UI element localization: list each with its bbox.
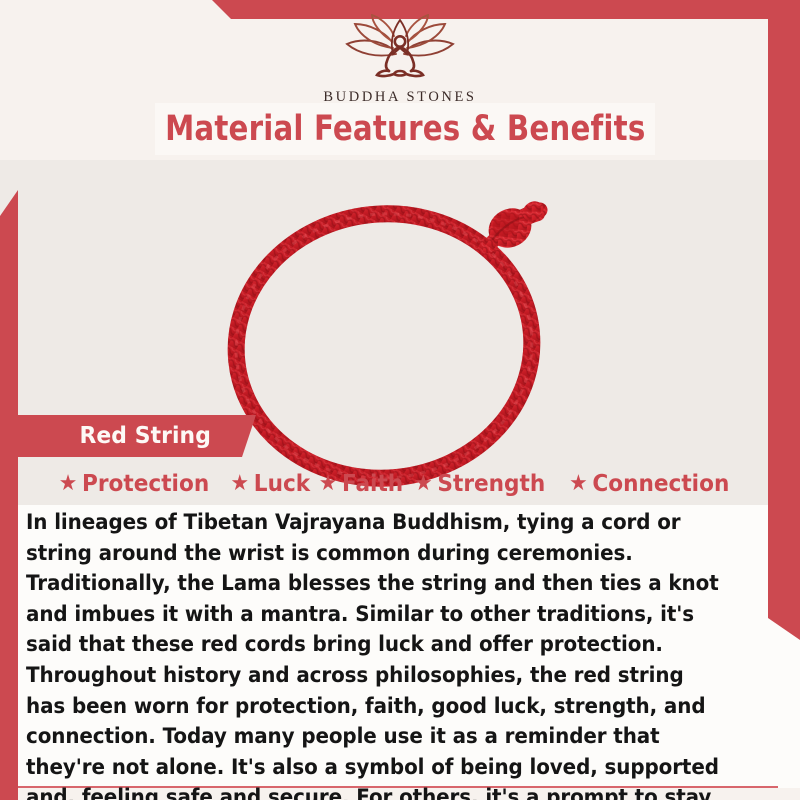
star-icon: ★ <box>59 473 78 495</box>
red-string-bracelet-illustration <box>188 168 608 498</box>
benefit-item-faith: ★ Faith <box>319 471 403 497</box>
star-icon: ★ <box>415 473 434 495</box>
star-icon: ★ <box>230 473 249 495</box>
product-name-ribbon: Red String <box>18 415 256 457</box>
benefit-item-strength: ★ Strength <box>415 471 546 497</box>
benefit-item-connection: ★ Connection <box>569 471 729 497</box>
description-text: In lineages of Tibetan Vajrayana Buddhis… <box>26 508 725 800</box>
benefit-label: Protection <box>82 471 209 497</box>
page-title-text: Material Features & Benefits <box>165 109 645 149</box>
lotus-meditation-icon <box>333 14 467 86</box>
page-title: Material Features & Benefits <box>155 103 655 155</box>
star-icon: ★ <box>319 473 338 495</box>
product-name-text: Red String <box>79 423 210 449</box>
star-icon: ★ <box>569 473 588 495</box>
benefits-list: ★ Protection ★ Luck ★ Faith ★ Strength ★… <box>18 466 770 502</box>
brand-logo: BUDDHA STONES <box>0 14 800 106</box>
benefit-label: Strength <box>438 471 546 497</box>
decorative-bar-left <box>0 190 18 800</box>
benefit-item-luck: ★ Luck <box>230 471 310 497</box>
benefit-label: Luck <box>254 471 310 497</box>
benefit-item-protection: ★ Protection <box>59 471 209 497</box>
benefit-label: Faith <box>342 471 403 497</box>
infographic-poster: BUDDHA STONES Material Features & Benefi… <box>0 0 800 800</box>
benefit-label: Connection <box>592 471 729 497</box>
